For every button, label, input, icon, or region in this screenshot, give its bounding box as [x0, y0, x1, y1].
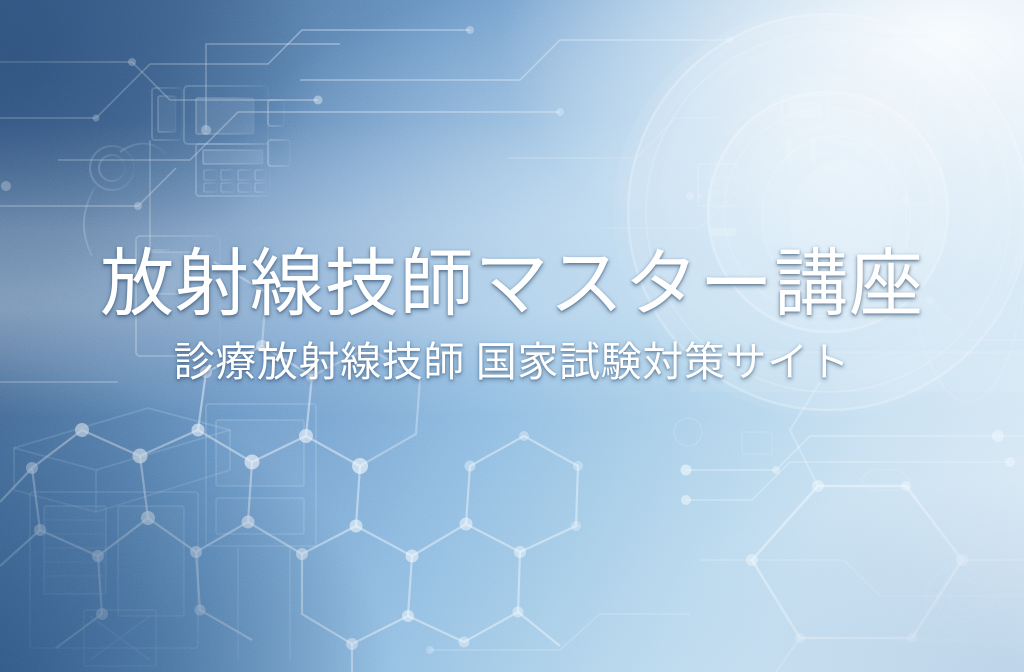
site-title: 放射線技師マスター講座: [0, 246, 1024, 324]
hero-banner: 放射線技師マスター講座 診療放射線技師 国家試験対策サイト: [0, 0, 1024, 672]
hero-text-block: 放射線技師マスター講座 診療放射線技師 国家試験対策サイト: [0, 246, 1024, 386]
site-subtitle: 診療放射線技師 国家試験対策サイト: [0, 340, 1024, 385]
tech-glyph-art: [674, 418, 994, 634]
